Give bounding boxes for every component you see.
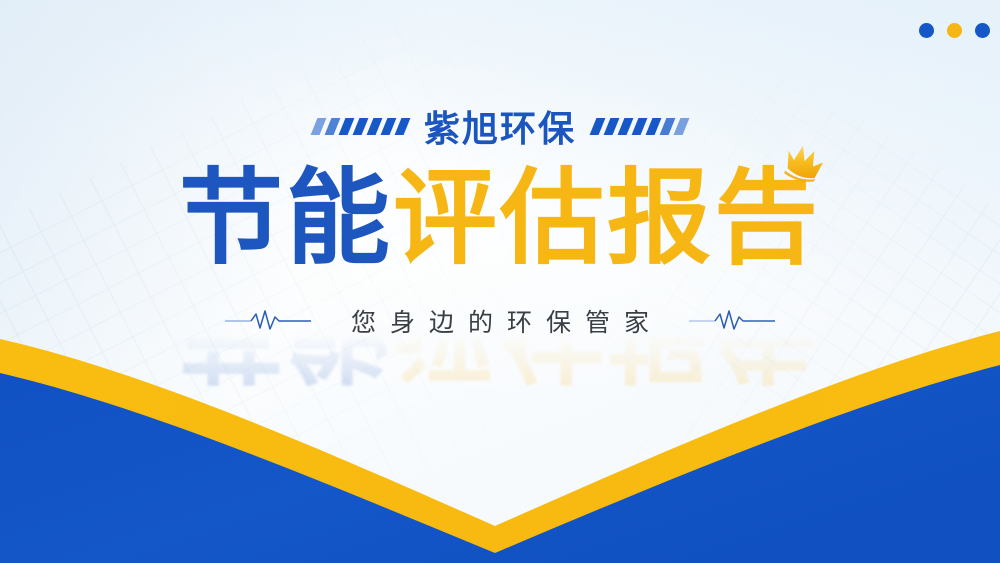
brand-name: 紫旭环保	[424, 100, 576, 152]
slanted-dash-icon-left	[314, 118, 407, 135]
title-segment-amber: 评估报告	[393, 161, 821, 277]
title-segment-blue: 节能	[179, 161, 393, 277]
main-title-block: 节能评估报告 节能评估报告	[0, 163, 1000, 275]
slanted-dash-icon-right	[593, 118, 686, 135]
corner-dots-decoration	[919, 23, 990, 38]
dot-blue-2	[975, 23, 990, 38]
title-slide: 紫旭环保 节能评估报告 节能评估报告	[0, 0, 1000, 563]
dot-blue-1	[919, 23, 934, 38]
bottom-wave-ribbons	[0, 313, 1000, 563]
brand-row: 紫旭环保	[0, 100, 1000, 152]
dot-amber	[947, 23, 962, 38]
page-title: 节能评估报告	[179, 163, 821, 275]
